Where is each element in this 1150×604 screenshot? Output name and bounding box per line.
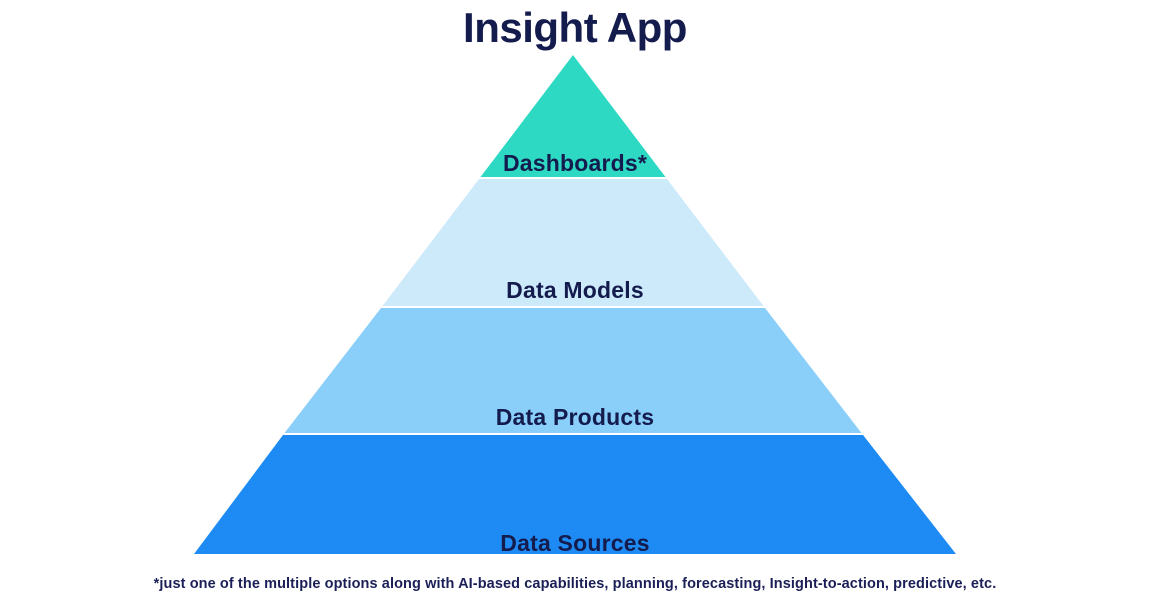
pyramid-label-dashboards: Dashboards* <box>0 150 1150 176</box>
diagram-canvas: Insight App Dashboards* Data Models Data… <box>0 0 1150 604</box>
footnote-text: *just one of the multiple options along … <box>0 574 1150 594</box>
pyramid-label-data-sources: Data Sources <box>0 530 1150 556</box>
pyramid-label-data-products: Data Products <box>0 404 1150 430</box>
pyramid-label-data-models: Data Models <box>0 277 1150 303</box>
